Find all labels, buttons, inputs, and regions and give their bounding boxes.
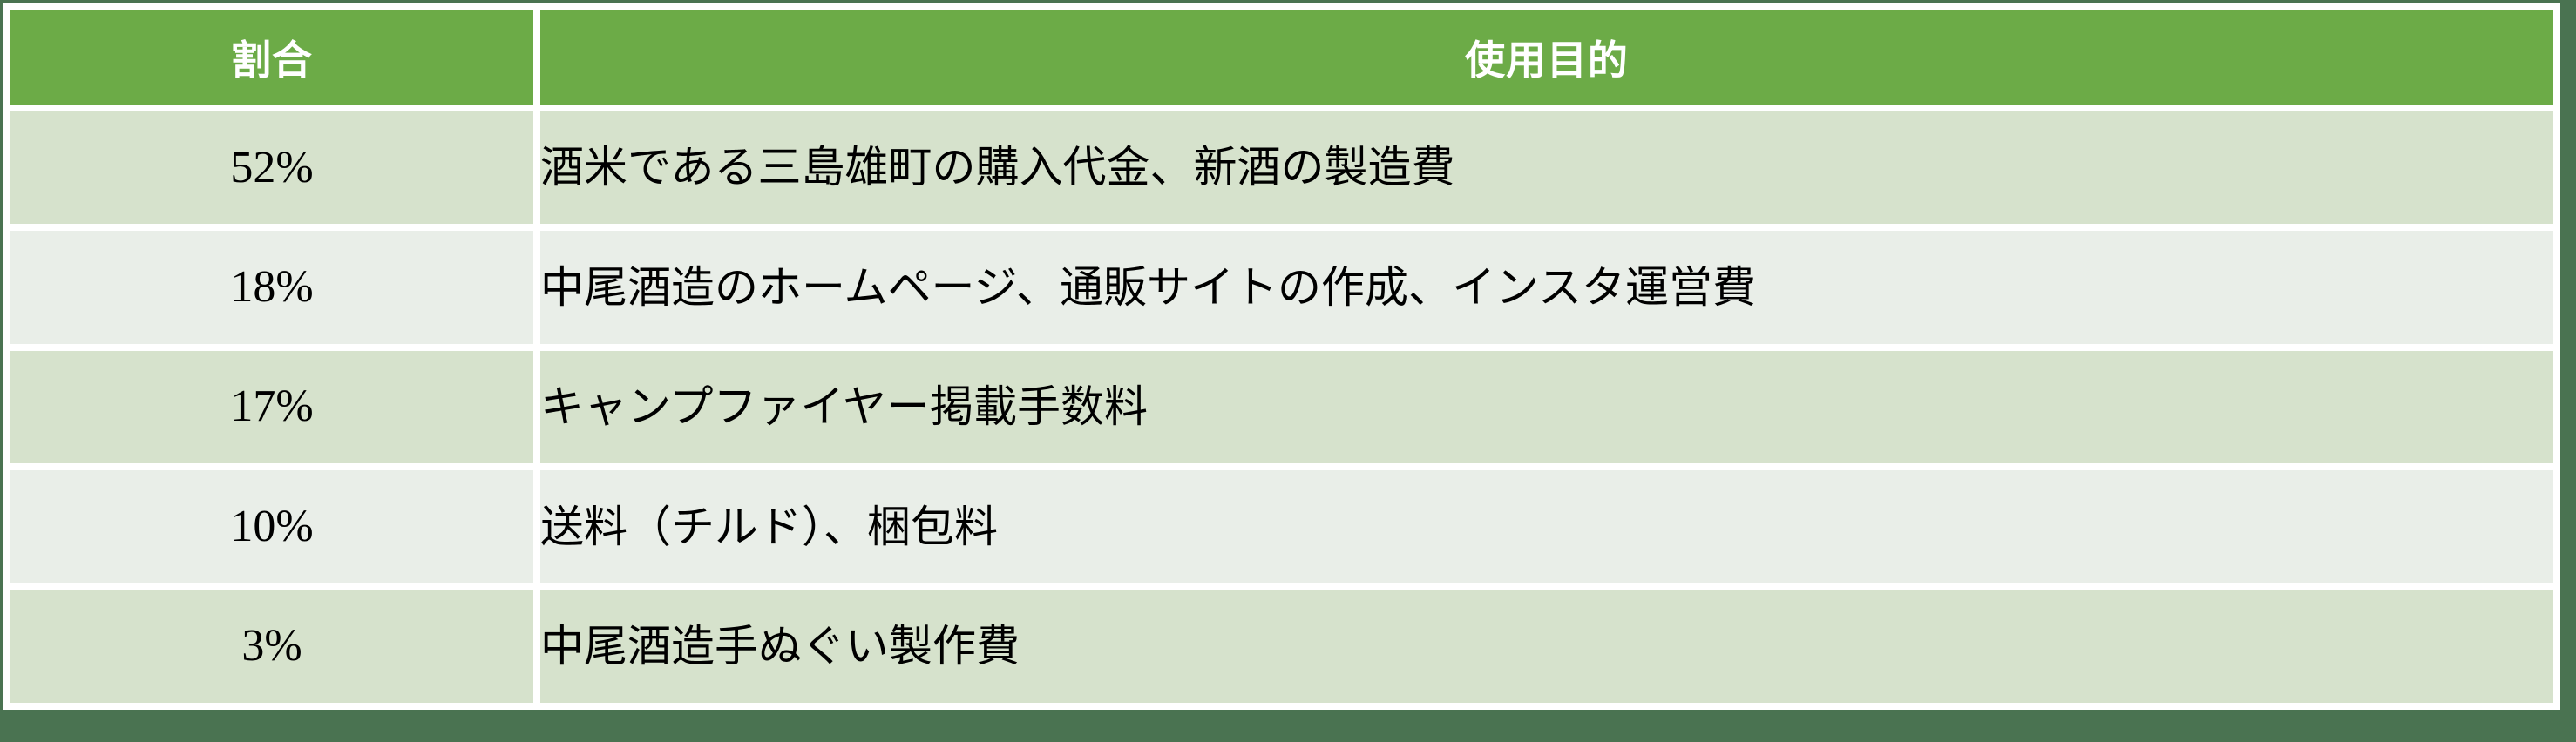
cell-ratio: 18% xyxy=(10,231,533,343)
cell-purpose: キャンプファイヤー掲載手数料 xyxy=(540,351,2553,463)
table-row: 52% 酒米である三島雄町の購入代金、新酒の製造費 xyxy=(10,111,2553,224)
column-header-ratio: 割合 xyxy=(10,10,533,105)
table-row: 17% キャンプファイヤー掲載手数料 xyxy=(10,351,2553,463)
cell-ratio: 52% xyxy=(10,111,533,224)
usage-purpose-table: 割合 使用目的 52% 酒米である三島雄町の購入代金、新酒の製造費 18% 中尾… xyxy=(3,3,2560,710)
cell-purpose: 酒米である三島雄町の購入代金、新酒の製造費 xyxy=(540,111,2553,224)
cell-ratio: 17% xyxy=(10,351,533,463)
cell-purpose: 中尾酒造手ぬぐい製作費 xyxy=(540,590,2553,703)
cell-purpose: 中尾酒造のホームページ、通販サイトの作成、インスタ運営費 xyxy=(540,231,2553,343)
column-header-purpose: 使用目的 xyxy=(540,10,2553,105)
table-frame: 割合 使用目的 52% 酒米である三島雄町の購入代金、新酒の製造費 18% 中尾… xyxy=(0,0,2576,742)
table-row: 10% 送料（チルド）、梱包料 xyxy=(10,470,2553,583)
cell-ratio: 10% xyxy=(10,470,533,583)
table-header: 割合 使用目的 xyxy=(10,10,2553,105)
table-header-row: 割合 使用目的 xyxy=(10,10,2553,105)
table-body: 52% 酒米である三島雄町の購入代金、新酒の製造費 18% 中尾酒造のホームペー… xyxy=(10,111,2553,703)
cell-ratio: 3% xyxy=(10,590,533,703)
cell-purpose: 送料（チルド）、梱包料 xyxy=(540,470,2553,583)
table-row: 3% 中尾酒造手ぬぐい製作費 xyxy=(10,590,2553,703)
table-row: 18% 中尾酒造のホームページ、通販サイトの作成、インスタ運営費 xyxy=(10,231,2553,343)
